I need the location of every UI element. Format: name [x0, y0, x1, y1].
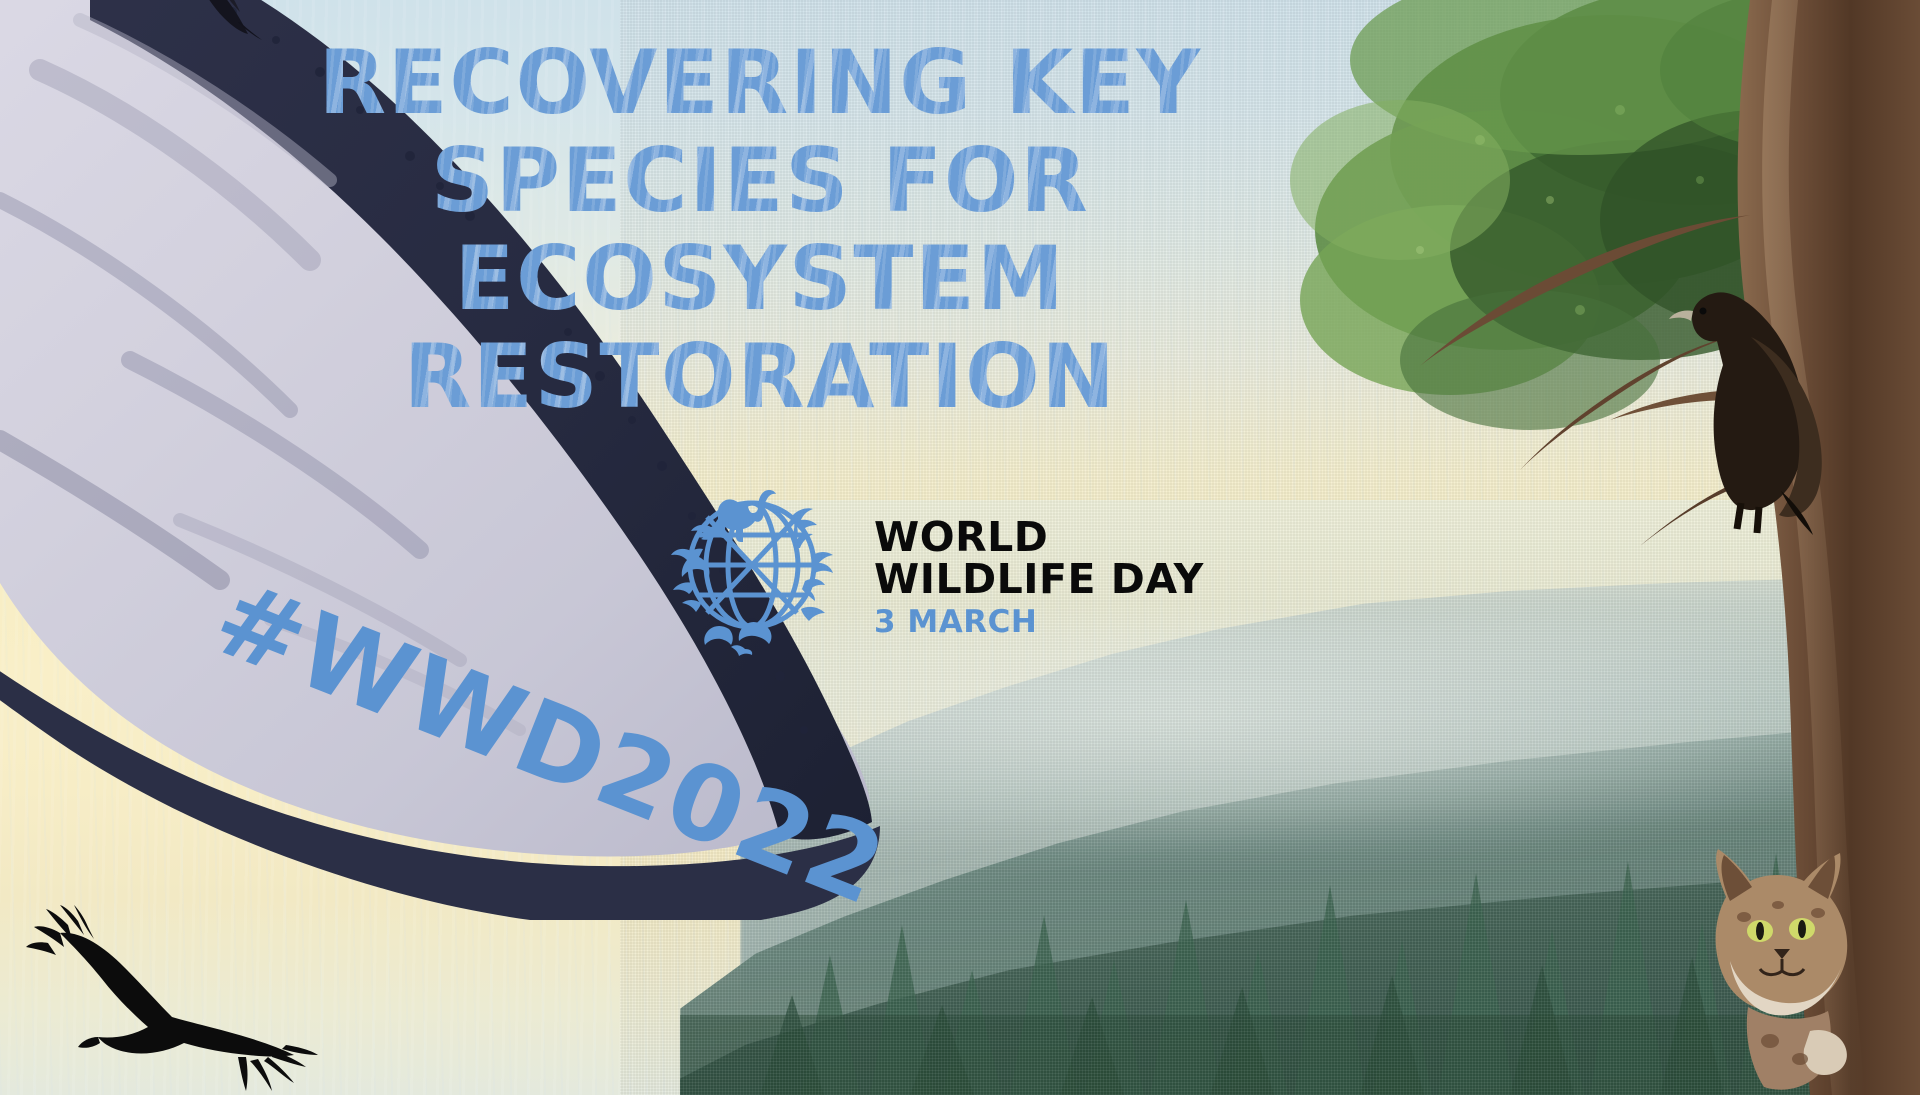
soaring-bird [20, 905, 320, 1095]
whale-silhouette [673, 582, 693, 594]
logo-line-date: 3 MARCH [874, 604, 1204, 640]
vulture [1655, 245, 1875, 545]
butterfly-silhouette [731, 645, 752, 656]
leaf-silhouette [682, 600, 701, 612]
soaring-bird-head [78, 1037, 100, 1048]
logo-line-wildlife-day: WILDLIFE DAY [874, 558, 1204, 600]
bird-wing-top [150, 0, 280, 58]
headline-line-3: ECOSYSTEM [300, 230, 1220, 328]
world-wildlife-day-logo: WORLD WILDLIFE DAY 3 MARCH [645, 443, 1145, 658]
globe-with-animals-icon [645, 443, 860, 658]
headline-line-4: RESTORATION [300, 328, 1220, 426]
page-title: RECOVERING KEY SPECIES FOR ECOSYSTEM RES… [300, 34, 1220, 426]
coral-silhouette [813, 552, 833, 573]
vulture-eye [1700, 308, 1707, 315]
logo-wordmark: WORLD WILDLIFE DAY 3 MARCH [874, 462, 1204, 640]
vulture-body [1692, 292, 1804, 510]
amphibian-silhouette [704, 626, 733, 645]
vulture-beak [1669, 310, 1693, 321]
turtle-silhouette [801, 607, 825, 621]
headline-line-1: RECOVERING KEY [300, 34, 1220, 132]
lynx-paw [1804, 1030, 1847, 1075]
headline-line-2: SPECIES FOR [300, 132, 1220, 230]
poster-canvas: RECOVERING KEY SPECIES FOR ECOSYSTEM RES… [0, 0, 1920, 1095]
logo-line-world: WORLD [874, 516, 1204, 558]
lynx [1678, 835, 1908, 1095]
globe-animal-silhouettes [671, 490, 833, 656]
